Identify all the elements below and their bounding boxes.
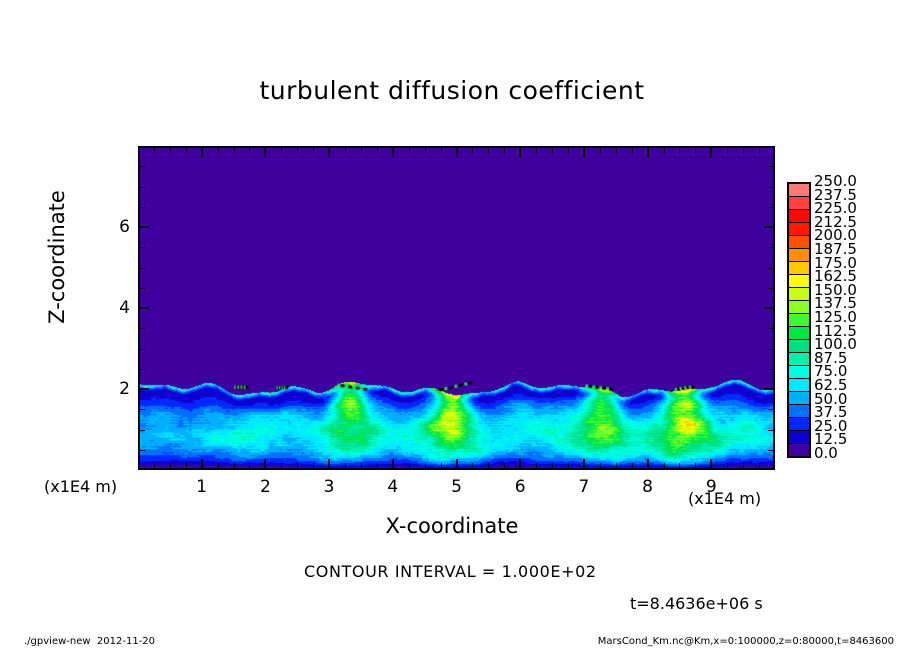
x-minor-tick <box>345 463 346 468</box>
colorbar-tick-label: 0.0 <box>814 447 838 460</box>
colorbar-labels: 250.0237.5225.0212.5200.0187.5175.0162.5… <box>814 182 884 458</box>
colorbar-band <box>789 275 809 288</box>
colorbar-band <box>789 444 809 456</box>
z-minor-tick <box>140 349 145 350</box>
x-minor-tick <box>441 148 442 153</box>
z-minor-tick <box>768 328 773 329</box>
x-major-tick <box>519 459 521 468</box>
x-minor-tick <box>568 463 569 468</box>
z-minor-tick <box>140 409 145 410</box>
z-major-tick <box>764 307 773 309</box>
z-minor-tick <box>140 247 145 248</box>
colorbar-band <box>789 353 809 366</box>
x-tick-label: 3 <box>309 477 349 497</box>
x-minor-tick <box>218 463 219 468</box>
x-major-tick <box>647 459 649 468</box>
z-minor-tick <box>768 288 773 289</box>
x-minor-tick <box>504 463 505 468</box>
x-major-tick <box>264 459 266 468</box>
z-major-tick <box>140 226 149 228</box>
contour-interval-label: CONTOUR INTERVAL = 1.000E+02 <box>304 562 597 581</box>
colorbar-band <box>789 405 809 418</box>
x-minor-tick <box>361 148 362 153</box>
x-major-tick <box>392 459 394 468</box>
x-major-tick <box>328 148 330 157</box>
x-major-tick <box>647 148 649 157</box>
z-minor-tick <box>140 207 145 208</box>
z-minor-tick <box>140 369 145 370</box>
z-minor-tick <box>768 187 773 188</box>
colorbar-band <box>789 262 809 275</box>
z-minor-tick <box>768 430 773 431</box>
x-major-tick <box>583 148 585 157</box>
x-major-tick <box>456 148 458 157</box>
x-minor-tick <box>281 463 282 468</box>
x-major-tick <box>264 148 266 157</box>
x-minor-tick <box>632 463 633 468</box>
x-minor-tick <box>154 148 155 153</box>
colorbar-band <box>789 210 809 223</box>
x-minor-tick <box>472 148 473 153</box>
colorbar-band <box>789 184 809 197</box>
x-tick-label: 8 <box>628 477 668 497</box>
x-minor-tick <box>679 148 680 153</box>
x-minor-tick <box>170 148 171 153</box>
z-minor-tick <box>768 409 773 410</box>
x-minor-tick <box>600 463 601 468</box>
x-tick-label: 7 <box>564 477 604 497</box>
z-minor-tick <box>768 369 773 370</box>
x-minor-tick <box>361 463 362 468</box>
x-minor-tick <box>249 148 250 153</box>
x-minor-tick <box>186 148 187 153</box>
x-minor-tick <box>695 463 696 468</box>
x-minor-tick <box>759 148 760 153</box>
x-minor-tick <box>313 148 314 153</box>
x-minor-tick <box>600 148 601 153</box>
x-minor-tick <box>552 463 553 468</box>
x-tick-label: 1 <box>182 477 222 497</box>
x-minor-tick <box>186 463 187 468</box>
x-minor-tick <box>679 463 680 468</box>
x-minor-tick <box>297 463 298 468</box>
z-major-tick <box>764 226 773 228</box>
plot-area[interactable] <box>138 146 775 470</box>
x-minor-tick <box>377 148 378 153</box>
x-unit-label-left: (x1E4 m) <box>44 477 117 496</box>
x-minor-tick <box>695 148 696 153</box>
colorbar-band <box>789 197 809 210</box>
z-minor-tick <box>768 268 773 269</box>
x-minor-tick <box>488 148 489 153</box>
x-minor-tick <box>664 463 665 468</box>
x-minor-tick <box>536 463 537 468</box>
x-minor-tick <box>249 463 250 468</box>
colorbar-band <box>789 301 809 314</box>
x-minor-tick <box>297 148 298 153</box>
colorbar-band <box>789 223 809 236</box>
x-major-tick <box>583 459 585 468</box>
z-major-tick <box>764 388 773 390</box>
colorbar-band <box>789 236 809 249</box>
z-minor-tick <box>140 268 145 269</box>
x-major-tick <box>201 148 203 157</box>
x-minor-tick <box>345 148 346 153</box>
x-minor-tick <box>218 148 219 153</box>
x-major-tick <box>710 459 712 468</box>
turbulent-diffusion-field <box>140 148 773 468</box>
x-minor-tick <box>568 148 569 153</box>
x-minor-tick <box>616 463 617 468</box>
x-tick-label: 6 <box>500 477 540 497</box>
z-tick-label: 2 <box>100 379 130 399</box>
figure-root: turbulent diffusion coefficient 12345678… <box>0 0 904 654</box>
time-label: t=8.4636e+06 s <box>630 594 763 613</box>
x-minor-tick <box>727 148 728 153</box>
colorbar-band <box>789 379 809 392</box>
colorbar-band <box>789 431 809 444</box>
z-minor-tick <box>140 328 145 329</box>
x-minor-tick <box>234 463 235 468</box>
z-minor-tick <box>140 187 145 188</box>
x-minor-tick <box>170 463 171 468</box>
x-unit-label-right: (x1E4 m) <box>688 489 761 508</box>
x-minor-tick <box>154 463 155 468</box>
x-minor-tick <box>409 148 410 153</box>
colorbar-band <box>789 288 809 301</box>
z-minor-tick <box>768 349 773 350</box>
z-tick-label: 6 <box>100 217 130 237</box>
x-minor-tick <box>727 463 728 468</box>
x-major-tick <box>392 148 394 157</box>
x-tick-label: 5 <box>437 477 477 497</box>
x-minor-tick <box>313 463 314 468</box>
z-minor-tick <box>140 450 145 451</box>
x-minor-tick <box>552 148 553 153</box>
y-axis-title: Z-coordinate <box>45 157 69 357</box>
colorbar-band <box>789 418 809 431</box>
z-minor-tick <box>140 288 145 289</box>
x-major-tick <box>328 459 330 468</box>
footer-command: ./gpview-new 2012-11-20 <box>24 636 155 647</box>
x-minor-tick <box>281 148 282 153</box>
z-minor-tick <box>768 207 773 208</box>
x-minor-tick <box>409 463 410 468</box>
x-minor-tick <box>616 148 617 153</box>
z-minor-tick <box>140 430 145 431</box>
x-minor-tick <box>743 148 744 153</box>
x-minor-tick <box>425 148 426 153</box>
z-major-tick <box>140 388 149 390</box>
footer-dataset: MarsCond_Km.nc@Km,x=0:100000,z=0:80000,t… <box>598 636 894 647</box>
x-axis-title: X-coordinate <box>0 514 904 538</box>
x-minor-tick <box>441 463 442 468</box>
colorbar[interactable] <box>787 182 811 458</box>
z-tick-label: 4 <box>100 298 130 318</box>
colorbar-band <box>789 366 809 379</box>
colorbar-band <box>789 392 809 405</box>
x-minor-tick <box>488 463 489 468</box>
x-minor-tick <box>743 463 744 468</box>
x-minor-tick <box>377 463 378 468</box>
x-minor-tick <box>504 148 505 153</box>
page-title: turbulent diffusion coefficient <box>0 76 904 105</box>
colorbar-band <box>789 340 809 353</box>
colorbar-band <box>789 314 809 327</box>
x-minor-tick <box>759 463 760 468</box>
x-minor-tick <box>632 148 633 153</box>
z-minor-tick <box>768 247 773 248</box>
x-minor-tick <box>234 148 235 153</box>
z-major-tick <box>140 307 149 309</box>
x-minor-tick <box>472 463 473 468</box>
x-tick-label: 2 <box>245 477 285 497</box>
z-minor-tick <box>768 166 773 167</box>
x-minor-tick <box>664 148 665 153</box>
x-major-tick <box>201 459 203 468</box>
x-major-tick <box>519 148 521 157</box>
x-minor-tick <box>536 148 537 153</box>
x-major-tick <box>456 459 458 468</box>
colorbar-band <box>789 249 809 262</box>
x-minor-tick <box>425 463 426 468</box>
x-major-tick <box>710 148 712 157</box>
x-tick-label: 4 <box>373 477 413 497</box>
z-minor-tick <box>140 166 145 167</box>
colorbar-band <box>789 327 809 340</box>
z-minor-tick <box>768 450 773 451</box>
